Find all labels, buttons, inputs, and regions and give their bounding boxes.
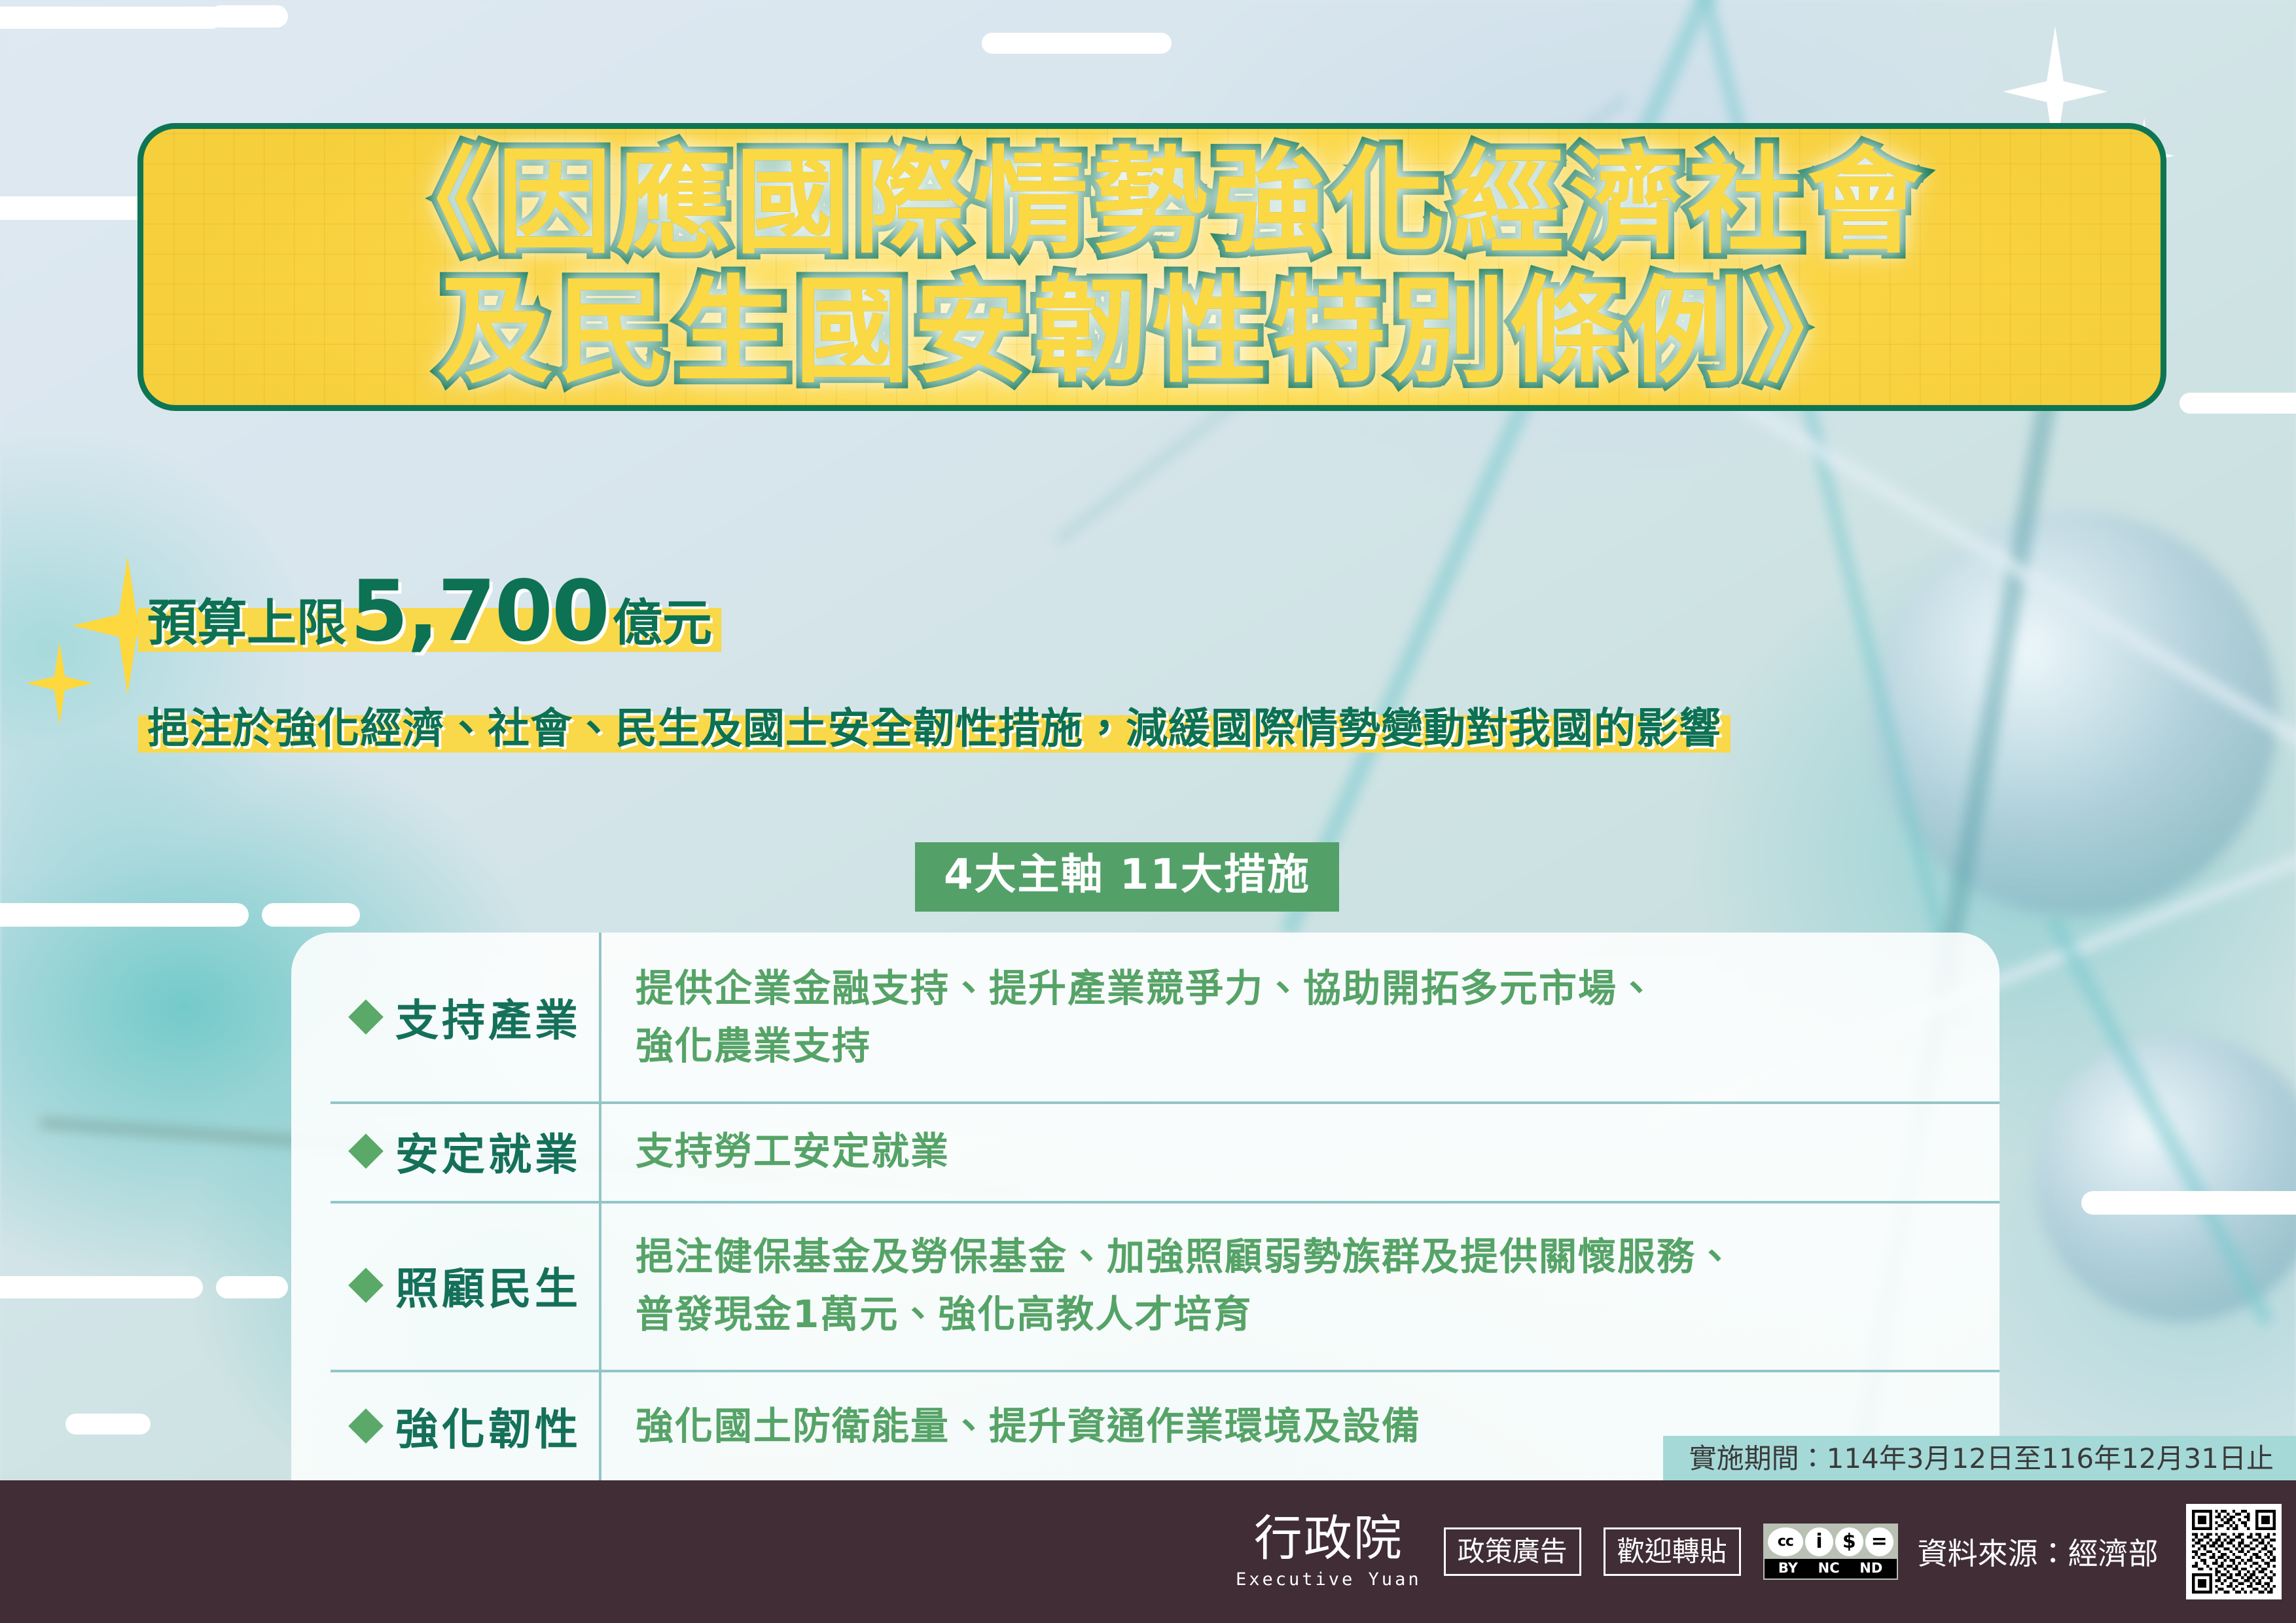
measure-value-line: 提供企業金融支持、提升產業競爭力、協助開拓多元市場、 <box>636 959 2000 1017</box>
repost-welcome-tag: 歡迎轉貼 <box>1604 1527 1741 1576</box>
executive-yuan-name-cn: 行政院 <box>1254 1514 1403 1563</box>
page-title-line-2: 及民生國安韌性特別條例》 <box>437 267 1867 396</box>
implementation-period-badge: 實施期間：114年3月12日至116年12月31日止 <box>1663 1436 2296 1483</box>
measure-value-line: 普發現金1萬元、強化高教人才培育 <box>636 1285 2000 1343</box>
diamond-bullet-icon <box>348 1408 384 1444</box>
budget-unit: 億元 <box>613 594 712 652</box>
decor-dash-1 <box>0 7 223 29</box>
background-hub-blur <box>1872 510 2278 916</box>
budget-amount: 5,700 <box>350 563 609 660</box>
budget-content: 預算上限5,700億元 <box>147 632 712 643</box>
measure-key-cell: 安定就業 <box>291 1120 599 1183</box>
subtitle-highlight: 挹注於強化經濟、社會、民生及國土安全韌性措施，減緩國際情勢變動對我國的影響 <box>147 695 1721 755</box>
decor-dash-10 <box>2081 1191 2296 1215</box>
budget-label: 預算上限 <box>147 594 346 652</box>
axes-badge: 4大主軸 11大措施 <box>915 842 1339 912</box>
qr-code[interactable] <box>2186 1504 2282 1599</box>
diamond-bullet-icon <box>348 999 384 1035</box>
qr-code-image <box>2192 1510 2276 1594</box>
axes-badge-label: 4大主軸 11大措施 <box>944 854 1310 896</box>
decor-dash-8 <box>216 1276 288 1298</box>
title-panel: 《因應國際情勢強化經濟社會 及民生國安韌性特別條例》 <box>137 123 2166 411</box>
measure-value-line: 強化農業支持 <box>636 1017 2000 1075</box>
diamond-bullet-icon <box>348 1133 384 1169</box>
decor-dash-7 <box>0 1276 203 1298</box>
measure-value-cell: 提供企業金融支持、提升產業競爭力、協助開拓多元市場、 強化農業支持 <box>599 933 2000 1101</box>
measure-value-cell: 挹注健保基金及勞保基金、加強照顧弱勢族群及提供關懷服務、 普發現金1萬元、強化高… <box>599 1201 2000 1370</box>
subtitle-row: 挹注於強化經濟、社會、民生及國土安全韌性措施，減緩國際情勢變動對我國的影響 <box>147 695 1721 755</box>
measure-key-label: 支持產業 <box>395 986 581 1048</box>
measure-key-label: 照顧民生 <box>395 1254 581 1317</box>
table-row: 安定就業 支持勞工安定就業 <box>291 1101 2000 1201</box>
cc-glyph-row: cc i $ = <box>1765 1525 1897 1559</box>
decor-dash-5 <box>0 903 249 927</box>
cc-by-icon: i <box>1805 1527 1833 1556</box>
executive-yuan-logo: 行政院 Executive Yuan <box>1236 1514 1422 1590</box>
decor-dash-2 <box>209 5 288 27</box>
measure-key-cell: 強化韌性 <box>291 1395 599 1457</box>
cc-by-label: BY <box>1778 1560 1798 1576</box>
measure-key-label: 強化韌性 <box>395 1395 581 1457</box>
budget-highlight: 預算上限5,700億元 <box>147 576 712 654</box>
measure-value-line: 挹注健保基金及勞保基金、加強照顧弱勢族群及提供關懷服務、 <box>636 1228 2000 1285</box>
page-title-line-1: 《因應國際情勢強化經濟社會 <box>378 138 1926 267</box>
measure-value-line: 支持勞工安定就業 <box>636 1122 2000 1180</box>
cc-label-row: BY NC ND <box>1765 1559 1897 1578</box>
executive-yuan-name-en: Executive Yuan <box>1236 1569 1422 1590</box>
budget-row: 預算上限5,700億元 <box>147 576 712 654</box>
cc-nc-label: NC <box>1818 1560 1840 1576</box>
data-source-label: 資料來源：經濟部 <box>1918 1530 2159 1573</box>
subtitle-text: 挹注於強化經濟、社會、民生及國土安全韌性措施，減緩國際情勢變動對我國的影響 <box>147 705 1721 753</box>
decor-dash-9 <box>65 1414 151 1435</box>
cc-nc-icon: $ <box>1835 1527 1863 1556</box>
table-row: 照顧民生 挹注健保基金及勞保基金、加強照顧弱勢族群及提供關懷服務、 普發現金1萬… <box>291 1201 2000 1370</box>
decor-dash-6 <box>262 903 360 927</box>
measure-value-cell: 支持勞工安定就業 <box>599 1101 2000 1201</box>
measure-key-cell: 支持產業 <box>291 986 599 1048</box>
diamond-bullet-icon <box>348 1268 384 1303</box>
decor-dash-11 <box>2179 393 2296 414</box>
footer-bar: 行政院 Executive Yuan 政策廣告 歡迎轉貼 cc i $ = BY… <box>0 1480 2296 1623</box>
cc-logo-icon: cc <box>1768 1527 1804 1556</box>
measures-panel: 支持產業 提供企業金融支持、提升產業競爭力、協助開拓多元市場、 強化農業支持 安… <box>291 933 2000 1482</box>
implementation-period-text: 實施期間：114年3月12日至116年12月31日止 <box>1689 1445 2274 1472</box>
decor-dash-4 <box>982 33 1172 54</box>
measure-key-label: 安定就業 <box>395 1120 581 1183</box>
cc-nd-label: ND <box>1859 1560 1882 1576</box>
policy-ad-tag: 政策廣告 <box>1444 1527 1581 1576</box>
measure-key-cell: 照顧民生 <box>291 1254 599 1317</box>
creative-commons-badge: cc i $ = BY NC ND <box>1763 1524 1898 1580</box>
table-row: 支持產業 提供企業金融支持、提升產業競爭力、協助開拓多元市場、 強化農業支持 <box>291 933 2000 1101</box>
cc-nd-icon: = <box>1865 1527 1893 1556</box>
